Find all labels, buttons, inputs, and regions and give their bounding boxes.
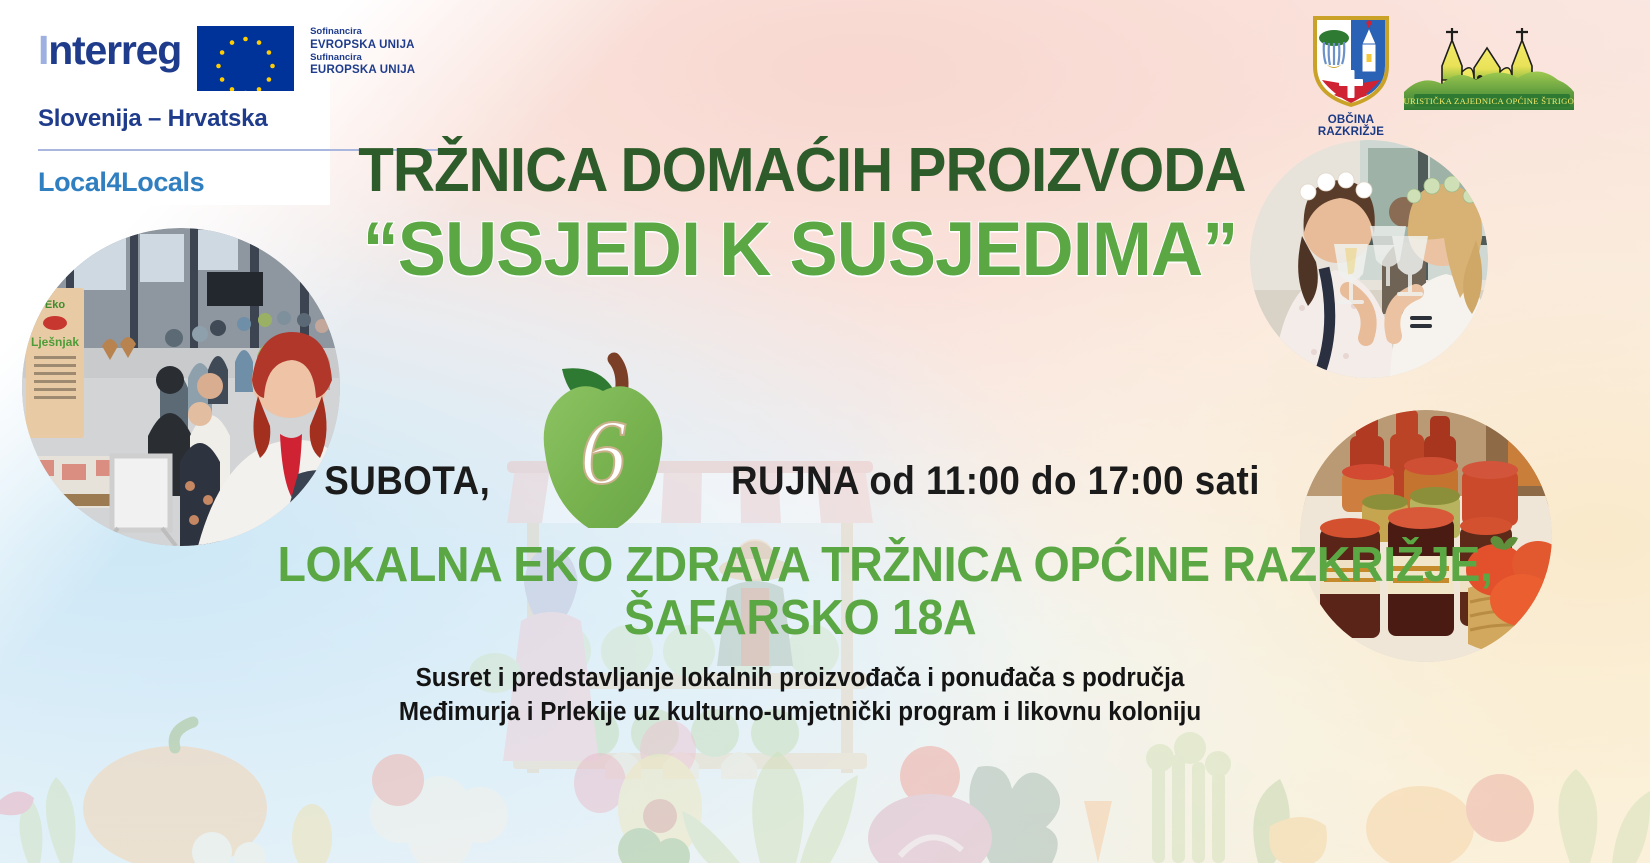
church-towers-logo-icon: TURISTIČKA ZAJEDNICA OPĆINE ŠTRIGOVA: [1404, 24, 1574, 110]
event-month-time: RUJNA od 11:00 do 17:00 sati: [731, 459, 1260, 504]
market-photo: Eko Lješnjak: [22, 228, 340, 546]
eu-cofinance-text: Sofinancira EVROPSKA UNIJA Sufinancira E…: [310, 22, 415, 77]
event-date-row: SUBOTA, 6 RUJNA od 1: [330, 435, 1270, 528]
event-location-block: LOKALNA EKO ZDRAVA TRŽNICA OPĆINE RAZKRI…: [250, 540, 1350, 645]
eu-cofinance-si-small: Sofinancira: [310, 26, 415, 38]
event-description-line1: Susret i predstavljanje lokalnih proizvo…: [325, 662, 1275, 696]
interreg-wordmark: Interreg: [38, 22, 181, 71]
event-poster: Interreg: [0, 0, 1650, 863]
poster-title-line2: “SUSJEDI K SUSJEDIMA”: [354, 212, 1247, 288]
svg-text:Eko: Eko: [45, 299, 65, 311]
event-description-block: Susret i predstavljanje lokalnih proizvo…: [300, 662, 1300, 729]
apple-day-badge: 6: [528, 343, 678, 528]
eu-cofinance-si-big: EVROPSKA UNIJA: [310, 38, 415, 52]
svg-text:TURISTIČKA ZAJEDNICA OPĆINE ŠT: TURISTIČKA ZAJEDNICA OPĆINE ŠTRIGOVA: [1404, 96, 1574, 106]
interreg-wordmark-prefix: I: [38, 27, 48, 73]
interreg-wordmark-rest: nterreg: [48, 27, 181, 73]
interreg-programme-name: Slovenija – Hrvatska: [38, 105, 458, 133]
svg-text:Lješnjak: Lješnjak: [31, 335, 79, 349]
event-day-name: SUBOTA,: [324, 459, 490, 504]
eu-cofinance-hr-big: EUROPSKA UNIJA: [310, 63, 415, 77]
coat-of-arms-shield-icon: [1308, 10, 1394, 110]
eu-cofinance-hr-small: Sufinancira: [310, 52, 415, 64]
eu-flag-icon: [197, 26, 294, 91]
poster-title-line1: TRŽNICA DOMAĆIH PROIZVODA: [358, 140, 1242, 202]
event-location-line2: ŠAFARSKO 18A: [278, 593, 1323, 644]
event-day-number-text: 6: [580, 401, 626, 503]
municipality-label: OBČINA RAZKRIŽJE: [1296, 114, 1406, 138]
event-description-line2: Međimurja i Prlekije uz kulturno-umjetni…: [325, 696, 1275, 730]
event-location-line1: LOKALNA EKO ZDRAVA TRŽNICA OPĆINE RAZKRI…: [278, 540, 1323, 591]
municipality-crest-block: OBČINA RAZKRIŽJE: [1296, 10, 1406, 138]
tourist-board-logo-block: TURISTIČKA ZAJEDNICA OPĆINE ŠTRIGOVA: [1404, 24, 1574, 110]
wine-tasting-photo: [1250, 140, 1488, 378]
headline-block: TRŽNICA DOMAĆIH PROIZVODA “SUSJEDI K SUS…: [330, 140, 1270, 288]
